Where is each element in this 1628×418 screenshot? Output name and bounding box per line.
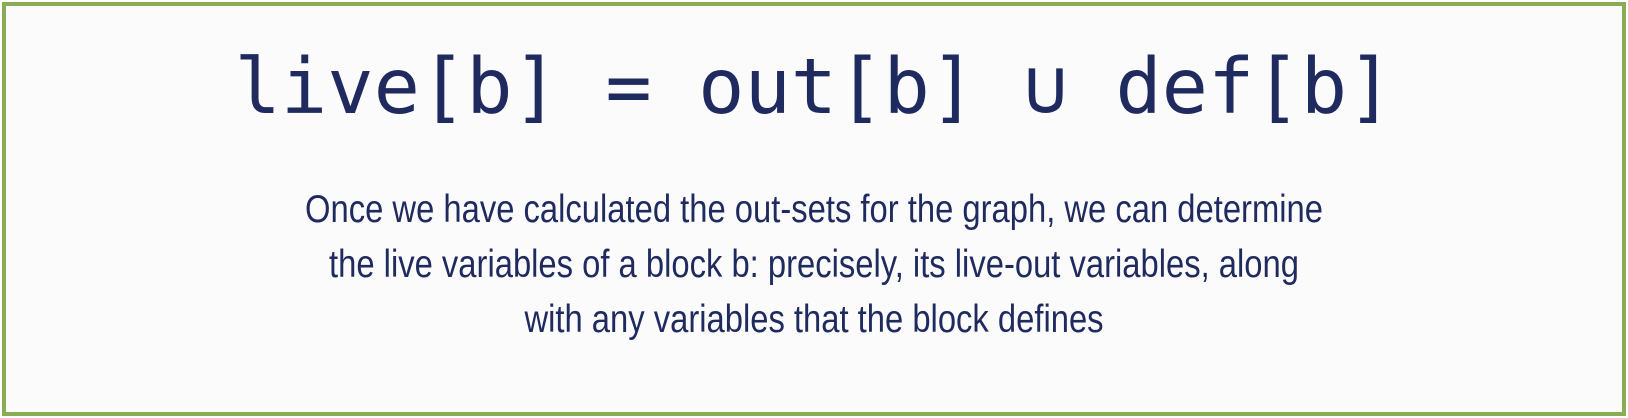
slide-content-area: live[b] = out[b] ∪ def[b] Once we have c…	[6, 6, 1622, 412]
body-line: the live variables of a block b: precise…	[135, 237, 1492, 292]
body-paragraph: Once we have calculated the out-sets for…	[6, 182, 1622, 347]
formula-heading: live[b] = out[b] ∪ def[b]	[6, 40, 1622, 136]
body-line: Once we have calculated the out-sets for…	[135, 182, 1492, 237]
body-line: with any variables that the block define…	[135, 292, 1492, 347]
slide-card: live[b] = out[b] ∪ def[b] Once we have c…	[2, 2, 1626, 416]
